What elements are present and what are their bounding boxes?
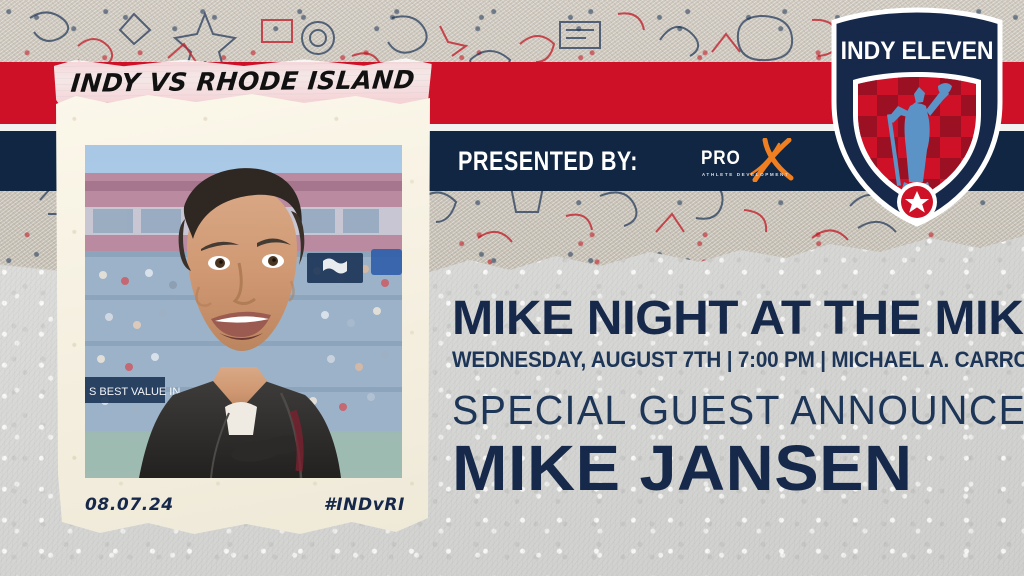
match-date: 08.07.24 bbox=[85, 495, 174, 515]
svg-text:S BEST VALUE IN: S BEST VALUE IN bbox=[89, 386, 180, 398]
match-hashtag: #INDvRI bbox=[324, 495, 405, 515]
sponsor-logo-prox: PRO ATHLETE DEVELOPMENT bbox=[701, 140, 797, 182]
polaroid-caption: 08.07.24 #INDvRI bbox=[85, 490, 405, 520]
polaroid-frame: S BEST VALUE IN bbox=[56, 94, 430, 534]
presented-by-block: PRESENTED BY: PRO ATHLETE DEVELOPMENT bbox=[458, 137, 797, 185]
event-details: WEDNESDAY, AUGUST 7TH | 7:00 PM | MICHAE… bbox=[452, 347, 969, 373]
event-title: MIKE NIGHT AT THE MIKE bbox=[452, 296, 1019, 342]
guest-photo-illustration: S BEST VALUE IN bbox=[85, 145, 402, 478]
indy-eleven-crest: INDY ELEVEN bbox=[826, 6, 1008, 230]
guest-name: MIKE JANSEN bbox=[452, 436, 1024, 500]
sponsor-tagline: ATHLETE DEVELOPMENT bbox=[702, 172, 789, 177]
guest-photo: S BEST VALUE IN bbox=[85, 145, 402, 478]
sponsor-wordmark: PRO bbox=[701, 148, 741, 170]
crest-banner: INDY ELEVEN bbox=[841, 32, 994, 66]
crest-star-badge bbox=[897, 182, 937, 222]
matchup-label: INDY VS RHODE ISLAND bbox=[53, 65, 434, 98]
presented-by-label: PRESENTED BY: bbox=[458, 146, 638, 177]
promotional-poster: INDY VS RHODE ISLAND PRESENTED BY: PRO A… bbox=[0, 0, 1024, 576]
crest-club-name: INDY ELEVEN bbox=[841, 37, 994, 65]
event-text-block: MIKE NIGHT AT THE MIKE WEDNESDAY, AUGUST… bbox=[452, 296, 1002, 500]
guest-role: SPECIAL GUEST ANNOUNCER bbox=[452, 387, 980, 434]
